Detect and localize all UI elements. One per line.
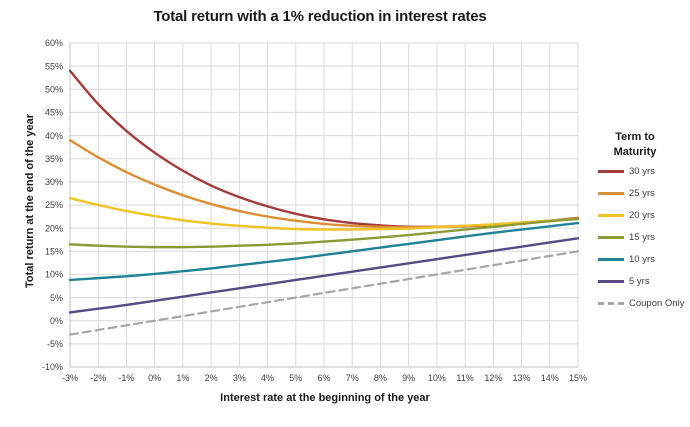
x-tick-label: 5% xyxy=(289,373,302,383)
legend-item[interactable]: 25 yrs xyxy=(598,182,690,204)
legend-item-label: 5 yrs xyxy=(629,276,650,287)
legend-title: Term to Maturity xyxy=(598,130,672,160)
y-tick-label: -10% xyxy=(42,362,63,372)
plot-area: -10%-5%0%5%10%15%20%25%30%35%40%45%50%55… xyxy=(0,0,690,427)
y-tick-label: 60% xyxy=(45,38,63,48)
x-tick-label: 13% xyxy=(513,373,531,383)
x-tick-label: 12% xyxy=(484,373,502,383)
legend-swatch-icon xyxy=(598,302,624,305)
y-tick-label: 30% xyxy=(45,177,63,187)
legend-items: 30 yrs25 yrs20 yrs15 yrs10 yrs5 yrsCoupo… xyxy=(598,160,690,314)
legend-swatch-icon xyxy=(598,170,624,173)
y-tick-label: 10% xyxy=(45,270,63,280)
x-tick-label: 3% xyxy=(233,373,246,383)
x-tick-label: -1% xyxy=(118,373,134,383)
legend-item-label: Coupon Only xyxy=(629,298,684,309)
y-tick-label: 0% xyxy=(50,316,63,326)
legend-title-line2: Maturity xyxy=(598,145,672,160)
legend-item-label: 30 yrs xyxy=(629,166,655,177)
y-axis-tick-labels: -10%-5%0%5%10%15%20%25%30%35%40%45%50%55… xyxy=(42,38,63,372)
x-axis-title: Interest rate at the beginning of the ye… xyxy=(70,392,580,404)
y-tick-label: 5% xyxy=(50,293,63,303)
legend-title-line1: Term to xyxy=(598,130,672,145)
y-tick-label: 25% xyxy=(45,200,63,210)
legend-item[interactable]: Coupon Only xyxy=(598,292,690,314)
y-tick-label: 50% xyxy=(45,84,63,94)
y-tick-label: 40% xyxy=(45,131,63,141)
x-tick-label: 14% xyxy=(541,373,559,383)
legend-item[interactable]: 30 yrs xyxy=(598,160,690,182)
legend-item[interactable]: 5 yrs xyxy=(598,270,690,292)
x-axis-tick-labels: -3%-2%-1%0%1%2%3%4%5%6%7%8%9%10%11%12%13… xyxy=(62,373,587,383)
x-tick-label: 6% xyxy=(317,373,330,383)
chart-legend: Term to Maturity 30 yrs25 yrs20 yrs15 yr… xyxy=(598,130,690,314)
x-tick-label: 2% xyxy=(205,373,218,383)
x-tick-label: 15% xyxy=(569,373,587,383)
legend-item[interactable]: 15 yrs xyxy=(598,226,690,248)
legend-swatch-icon xyxy=(598,214,624,217)
legend-item-label: 20 yrs xyxy=(629,210,655,221)
legend-item[interactable]: 10 yrs xyxy=(598,248,690,270)
legend-item-label: 15 yrs xyxy=(629,232,655,243)
x-tick-label: 7% xyxy=(346,373,359,383)
x-tick-label: 0% xyxy=(148,373,161,383)
y-tick-label: 15% xyxy=(45,246,63,256)
x-tick-label: 11% xyxy=(456,373,473,383)
x-tick-label: -2% xyxy=(90,373,106,383)
y-tick-label: -5% xyxy=(47,339,63,349)
y-tick-label: 35% xyxy=(45,154,63,164)
x-tick-label: 9% xyxy=(402,373,415,383)
x-tick-label: 1% xyxy=(176,373,189,383)
legend-swatch-icon xyxy=(598,236,624,239)
grid-lines xyxy=(70,43,578,367)
legend-swatch-icon xyxy=(598,192,624,195)
legend-swatch-icon xyxy=(598,258,624,261)
x-tick-label: -3% xyxy=(62,373,78,383)
y-tick-label: 45% xyxy=(45,108,63,118)
legend-item-label: 10 yrs xyxy=(629,254,655,265)
y-tick-label: 20% xyxy=(45,223,63,233)
x-tick-label: 10% xyxy=(428,373,446,383)
y-tick-label: 55% xyxy=(45,61,63,71)
chart-container: Total return with a 1% reduction in inte… xyxy=(0,0,690,427)
legend-swatch-icon xyxy=(598,280,624,283)
x-tick-label: 4% xyxy=(261,373,274,383)
x-tick-label: 8% xyxy=(374,373,387,383)
legend-item[interactable]: 20 yrs xyxy=(598,204,690,226)
legend-item-label: 25 yrs xyxy=(629,188,655,199)
